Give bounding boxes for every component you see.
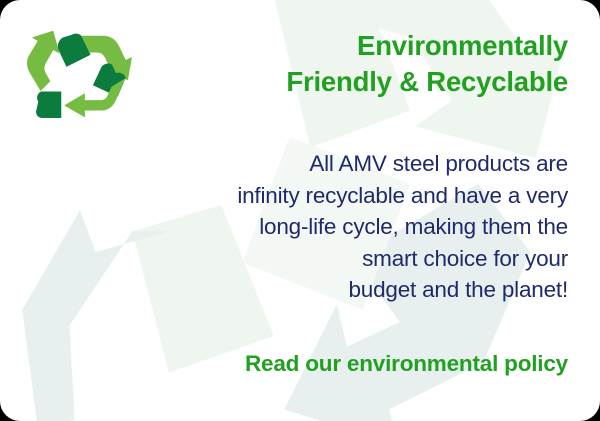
- environmental-info-card: Environmentally Friendly & Recyclable Al…: [0, 0, 600, 421]
- page-title: Environmentally Friendly & Recyclable: [40, 28, 568, 100]
- heading-line-1: Environmentally: [40, 28, 568, 64]
- body-line-1: All AMV steel products are: [40, 148, 568, 180]
- card-content: Environmentally Friendly & Recyclable Al…: [40, 0, 568, 421]
- body-line-3: long-life cycle, making them the: [40, 211, 568, 243]
- body-line-5: budget and the planet!: [40, 274, 568, 306]
- body-paragraph: All AMV steel products are infinity recy…: [40, 148, 568, 306]
- body-line-2: infinity recyclable and have a very: [40, 180, 568, 212]
- heading-line-2: Friendly & Recyclable: [40, 64, 568, 100]
- environmental-policy-link[interactable]: Read our environmental policy: [40, 350, 568, 378]
- body-line-4: smart choice for your: [40, 243, 568, 275]
